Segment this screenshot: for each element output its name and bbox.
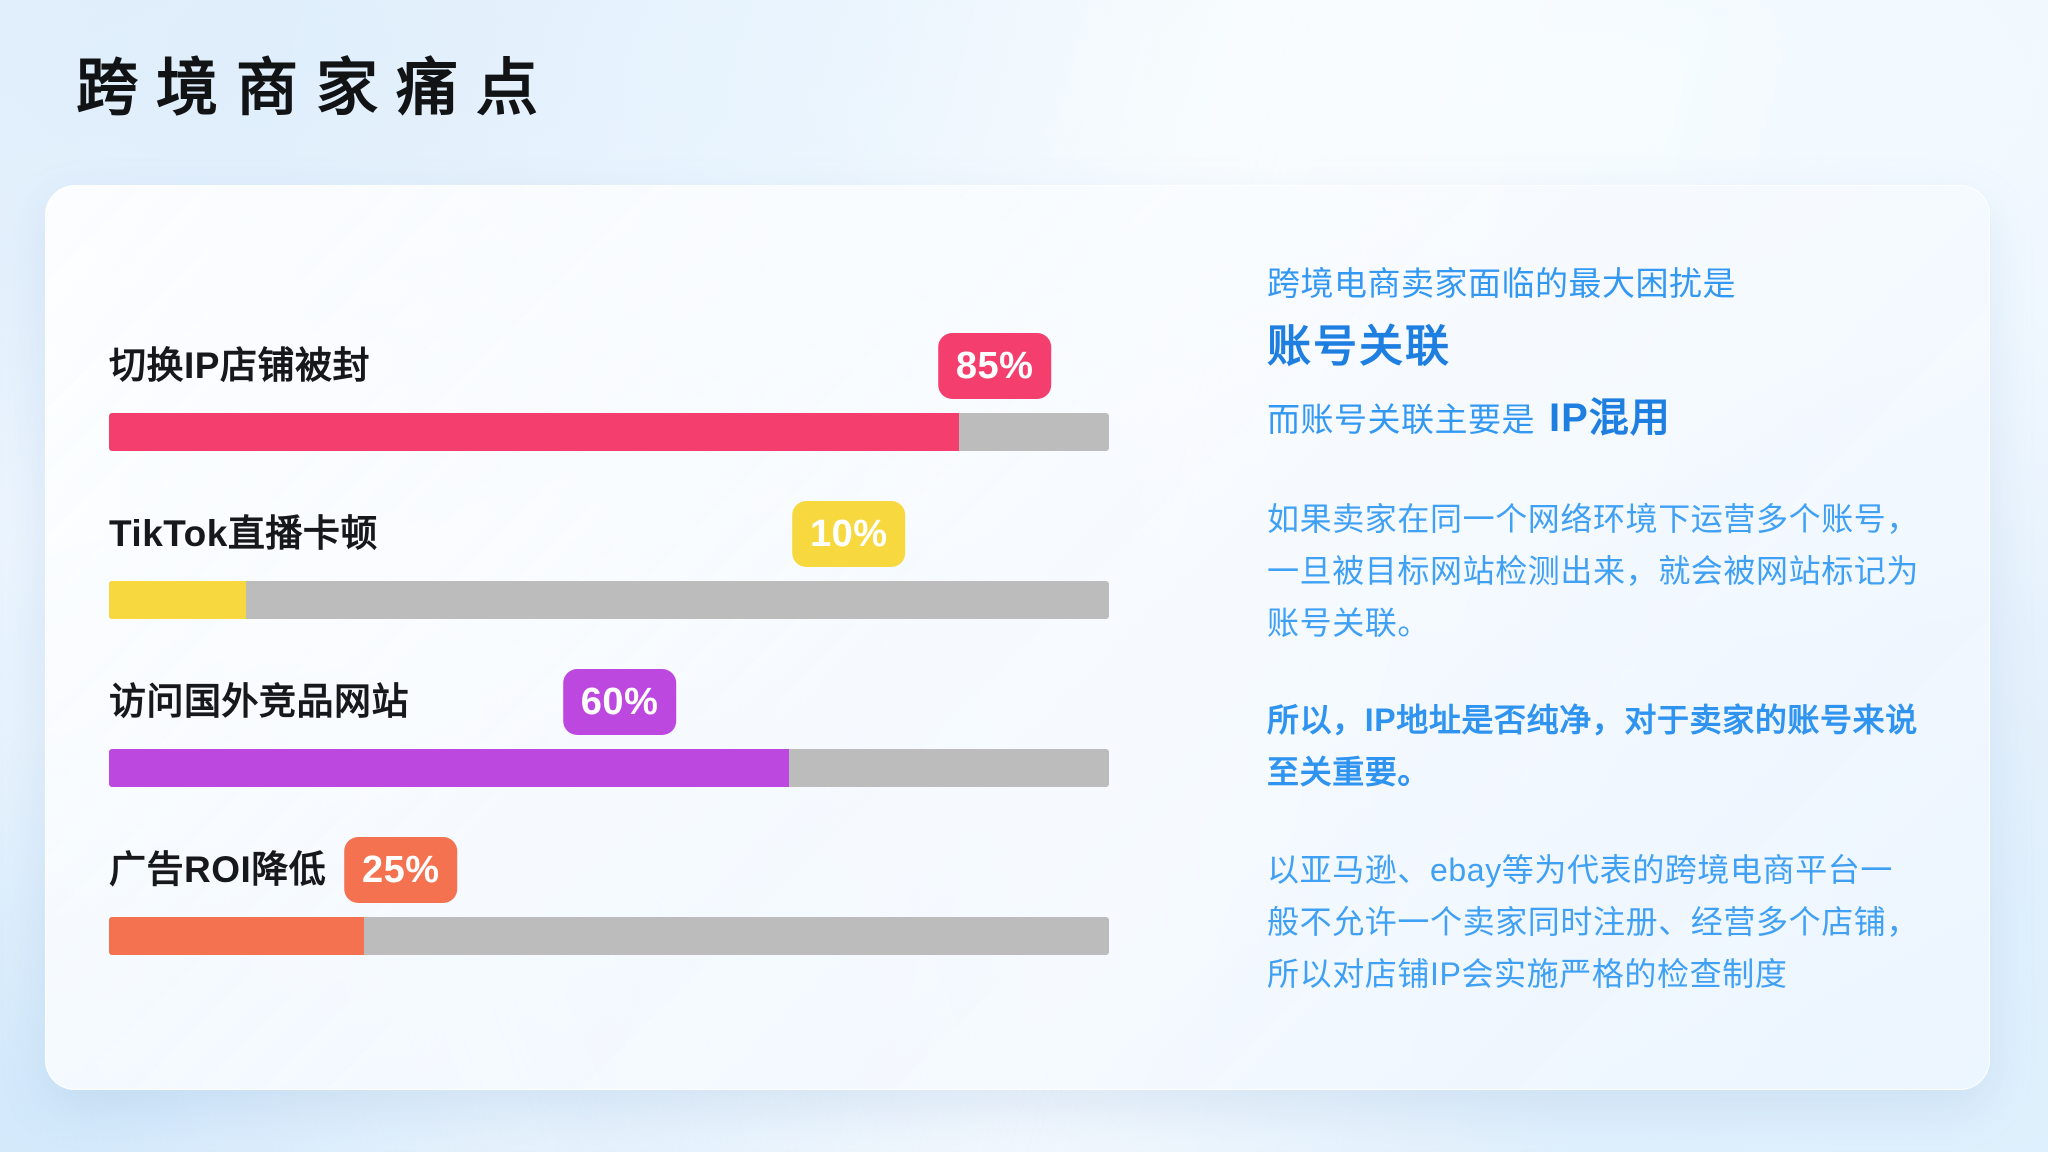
bar-track (109, 581, 1109, 619)
bar-fill (109, 581, 246, 619)
bar-header: TikTok直播卡顿 10% (109, 497, 1151, 571)
paragraph-3: 以亚马逊、ebay等为代表的跨境电商平台一般不允许一个卖家同时注册、经营多个店铺… (1267, 845, 1925, 1000)
bar-chart: 切换IP店铺被封 85% TikTok直播卡顿 10% 访问国外竞品网站 60% (46, 186, 1211, 1089)
bar-row: 切换IP店铺被封 85% (109, 329, 1151, 451)
bar-label: TikTok直播卡顿 (109, 515, 378, 552)
bar-track (109, 917, 1109, 955)
bar-row: 广告ROI降低 25% (109, 833, 1151, 955)
bar-fill (109, 917, 364, 955)
bar-fill (109, 749, 789, 787)
bar-value-badge: 10% (792, 501, 906, 567)
bar-value-badge: 25% (344, 837, 458, 903)
page-title: 跨境商家痛点 (76, 58, 556, 120)
bar-label: 访问国外竞品网站 (109, 683, 409, 720)
lead-mix-prefix: 而账号关联主要是 (1267, 401, 1535, 438)
bar-track (109, 749, 1109, 787)
bar-header: 访问国外竞品网站 60% (109, 665, 1151, 739)
bar-label: 切换IP店铺被封 (109, 347, 370, 384)
bar-label: 广告ROI降低 (109, 851, 326, 888)
paragraph-2: 所以，IP地址是否纯净，对于卖家的账号来说至关重要。 (1267, 695, 1925, 799)
bar-fill (109, 413, 959, 451)
bar-header: 广告ROI降低 25% (109, 833, 1151, 907)
bar-header: 切换IP店铺被封 85% (109, 329, 1151, 403)
lead-mix-highlight: IP混用 (1549, 396, 1671, 440)
lead-mix-line: 而账号关联主要是IP混用 (1267, 388, 1925, 448)
lead-keyword: 账号关联 (1267, 314, 1925, 380)
paragraph-1: 如果卖家在同一个网络环境下运营多个账号，一旦被目标网站检测出来，就会被网站标记为… (1267, 494, 1925, 649)
lead-line: 跨境电商卖家面临的最大困扰是 (1267, 260, 1925, 308)
bar-track (109, 413, 1109, 451)
bar-row: 访问国外竞品网站 60% (109, 665, 1151, 787)
content-card: 切换IP店铺被封 85% TikTok直播卡顿 10% 访问国外竞品网站 60% (45, 185, 1990, 1090)
bar-value-badge: 85% (938, 333, 1052, 399)
explanation-panel: 跨境电商卖家面临的最大困扰是 账号关联 而账号关联主要是IP混用 如果卖家在同一… (1211, 186, 1989, 1089)
bar-value-badge: 60% (563, 669, 677, 735)
bar-row: TikTok直播卡顿 10% (109, 497, 1151, 619)
